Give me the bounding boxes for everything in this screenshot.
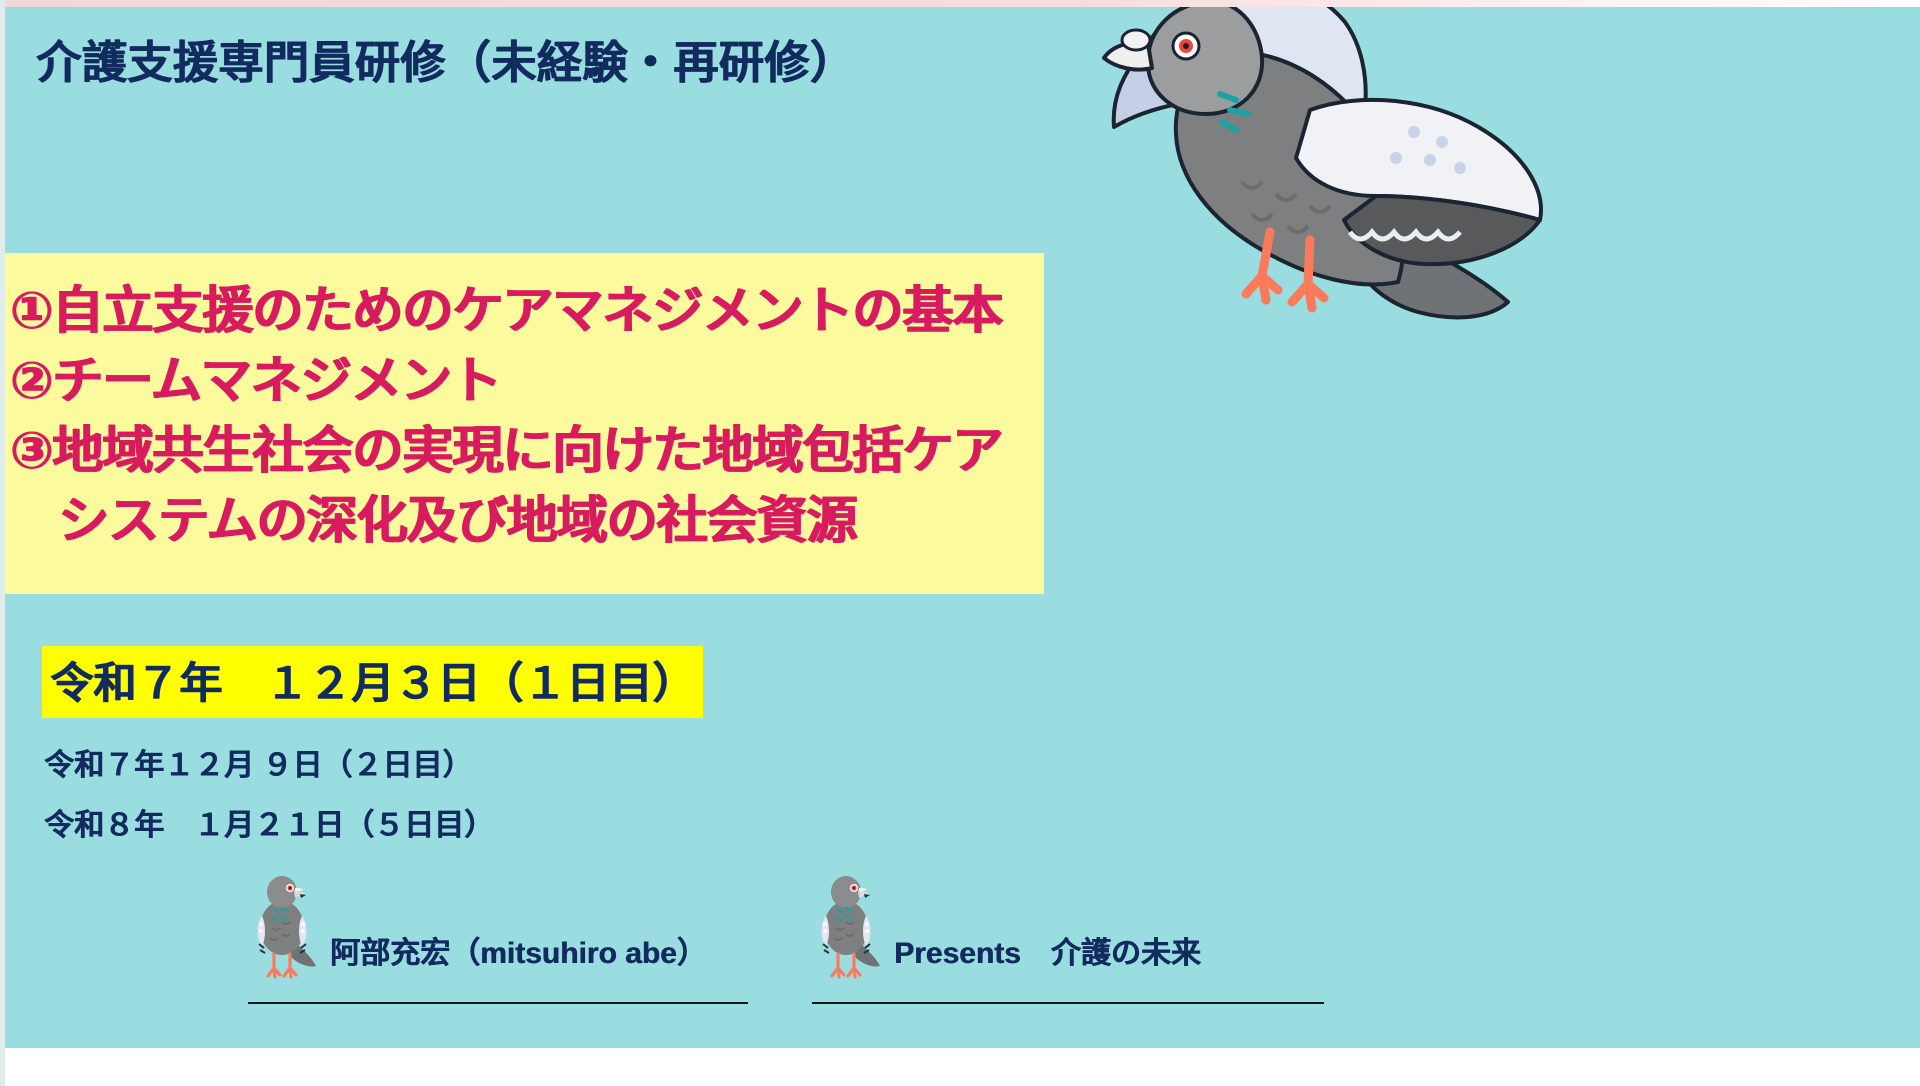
topic-line-4: システムの深化及び地域の社会資源 <box>10 479 856 553</box>
pigeon-standing-icon <box>812 868 884 986</box>
topic-line-1: ①自立支援のためのケアマネジメントの基本 <box>10 269 1002 343</box>
topic-line-2: ②チームマネジメント <box>10 339 501 413</box>
presenter-name: 阿部充宏（mitsuhiro abe） <box>330 928 707 986</box>
pigeon-standing-icon <box>248 868 320 986</box>
left-border-strip <box>0 0 5 1086</box>
secondary-date-day2: 令和７年１２月 ９日（２日目） <box>44 740 472 784</box>
topic-highlight-box: ①自立支援のためのケアマネジメントの基本 ②チームマネジメント ③地域共生社会の… <box>0 253 1044 594</box>
presentation-slide: 介護支援専門員研修（未経験・再研修） ①自立支援のためのケアマネジメントの基本 … <box>0 0 1920 1086</box>
organization-block: Presents 介護の未来 <box>812 868 1324 986</box>
bottom-white-band <box>0 1048 1920 1086</box>
secondary-date-day5: 令和８年 １月２１日（５日目） <box>44 800 494 844</box>
primary-date-highlight: 令和７年 １２月３日（１日目） <box>42 646 703 718</box>
slide-title: 介護支援専門員研修（未経験・再研修） <box>36 26 855 91</box>
top-border-strip <box>0 0 1920 7</box>
organization-name: Presents 介護の未来 <box>894 928 1201 986</box>
presenter-underline <box>248 1002 748 1004</box>
presenter-block: 阿部充宏（mitsuhiro abe） <box>248 868 748 986</box>
topic-line-3: ③地域共生社会の実現に向けた地域包括ケア <box>10 409 1002 483</box>
organization-underline <box>812 1002 1324 1004</box>
